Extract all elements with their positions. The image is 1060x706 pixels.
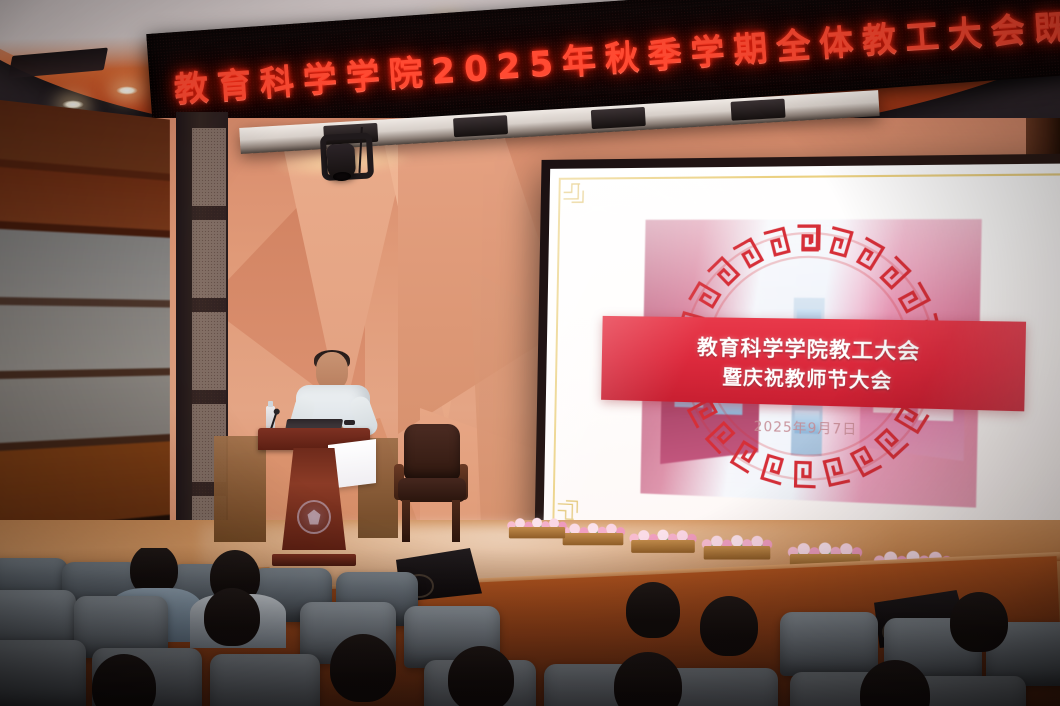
chair-leg	[452, 500, 460, 542]
university-emblem-icon	[297, 500, 331, 534]
downlight-icon	[116, 86, 138, 95]
projection-screen-surface: 教育科学学院教工大会 暨庆祝教师节大会 2025年9月7日	[543, 163, 1060, 560]
chair-backrest	[404, 424, 460, 480]
left-side-wall-panels	[0, 100, 170, 570]
presenter-watch	[344, 420, 355, 425]
bar-lamp-icon	[591, 107, 646, 129]
slide-gold-border	[552, 173, 1060, 550]
projection-screen: 教育科学学院教工大会 暨庆祝教师节大会 2025年9月7日	[534, 153, 1060, 570]
bar-lamp-icon	[453, 115, 508, 137]
chair-leg	[402, 500, 410, 542]
planter-box	[563, 533, 624, 545]
audience-shadow-overlay	[0, 548, 1060, 706]
auditorium-photo: 教育科学学院2025年秋季学期全体教工大会既庆祝	[0, 0, 1060, 706]
flower-planter	[509, 516, 565, 539]
bar-lamp-icon	[731, 99, 786, 121]
corner-fret-icon-tl	[561, 180, 595, 208]
light-lens	[333, 172, 351, 182]
moving-head-light-icon	[317, 127, 366, 187]
flower-planter	[563, 521, 624, 546]
planter-box	[509, 527, 565, 538]
audience-seating	[0, 548, 1060, 706]
stage-armchair	[392, 424, 470, 542]
chair-seat	[398, 478, 466, 502]
